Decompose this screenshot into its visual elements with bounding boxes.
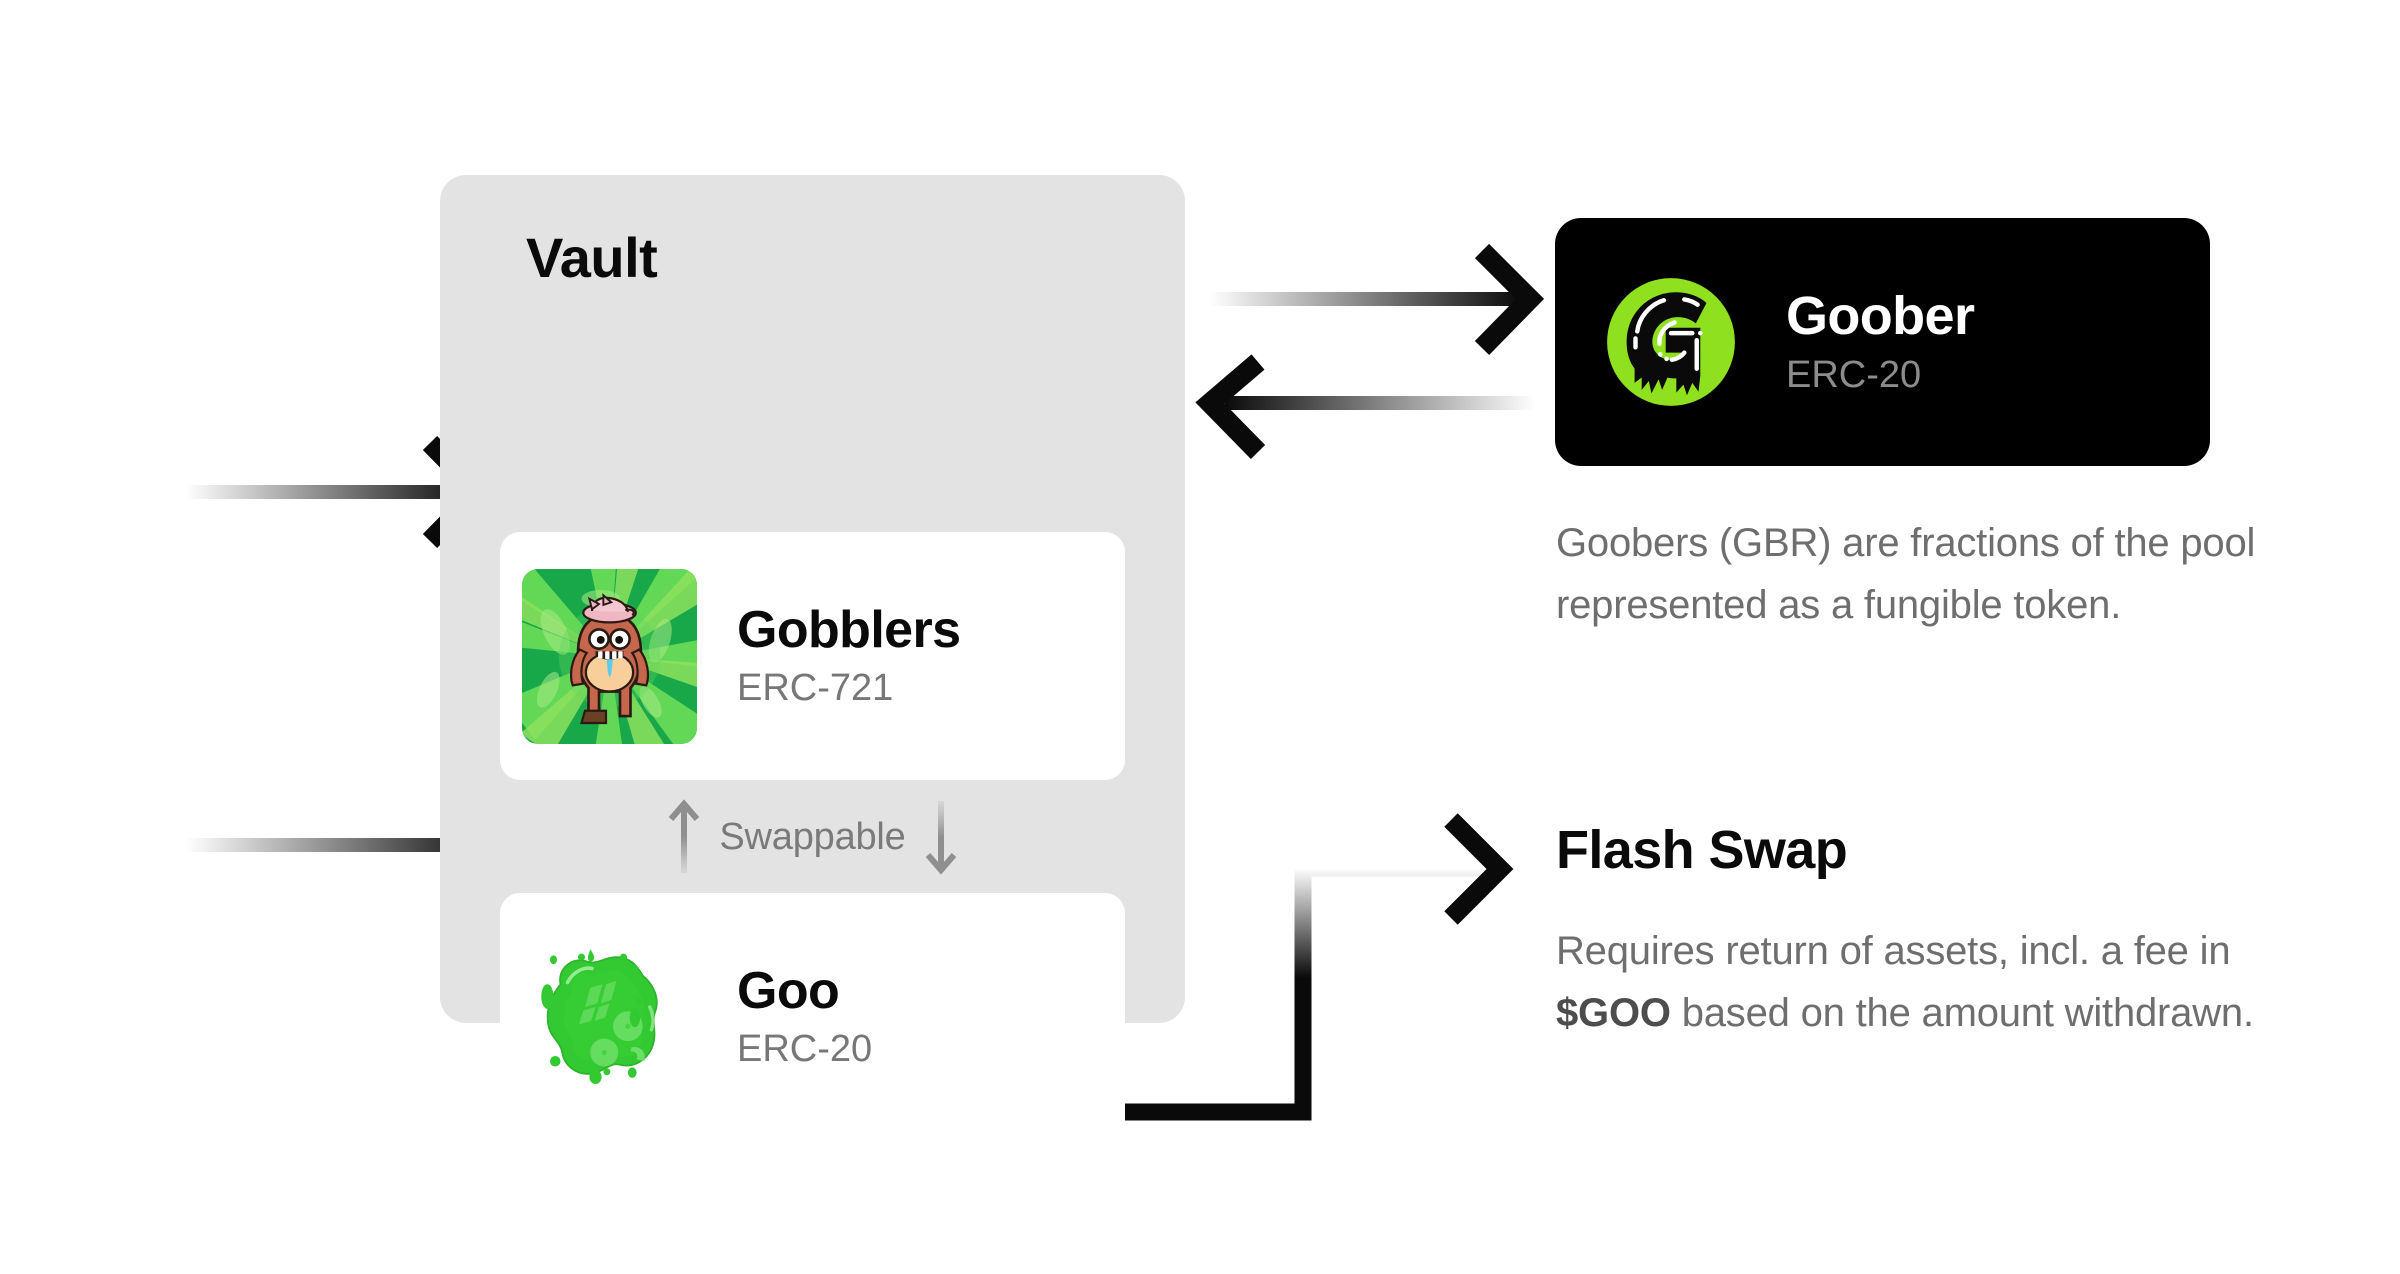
flash-swap-desc-part2: based on the amount withdrawn. [1671,991,2254,1035]
goo-blob-artwork [522,930,697,1105]
swappable-label: Swappable [719,816,905,859]
asset-text-gobblers: Gobblers ERC-721 [737,603,960,708]
goober-g-logo [1600,271,1742,413]
page-title: Vault [526,230,657,286]
connector-arrows [0,0,2400,1274]
arrow-up-icon [667,799,701,875]
gobbler-nft-artwork [522,569,697,744]
arrow-down-icon [924,799,958,875]
asset-standard: ERC-721 [737,668,960,708]
flash-swap-desc-emphasis: $GOO [1556,991,1671,1035]
flash-swap-desc-part1: Requires return of assets, incl. a fee i… [1556,929,2230,973]
asset-text-goo: Goo ERC-20 [737,964,872,1069]
goober-token-card[interactable]: Goober ERC-20 [1555,218,2210,466]
deposit-gobblers-arrow [186,443,478,541]
asset-name: Gobblers [737,603,960,658]
goober-card-text: Goober ERC-20 [1786,288,1974,396]
flash-swap-description: Requires return of assets, incl. a fee i… [1556,920,2276,1044]
asset-name: Goo [737,964,872,1019]
goober-to-vault-arrow [1210,362,1535,452]
goober-name: Goober [1786,288,1974,345]
flash-swap-title: Flash Swap [1556,823,1847,877]
asset-standard: ERC-20 [737,1029,872,1069]
asset-card-gobblers[interactable]: Gobblers ERC-721 [500,532,1125,780]
asset-card-goo[interactable]: Goo ERC-20 [500,893,1125,1141]
vault-to-goober-arrow [1210,251,1530,348]
goober-description: Goobers (GBR) are fractions of the pool … [1556,512,2276,636]
goober-standard: ERC-20 [1786,355,1974,395]
swappable-indicator: Swappable [440,787,1185,887]
vault-panel: Vault [440,175,1185,1023]
